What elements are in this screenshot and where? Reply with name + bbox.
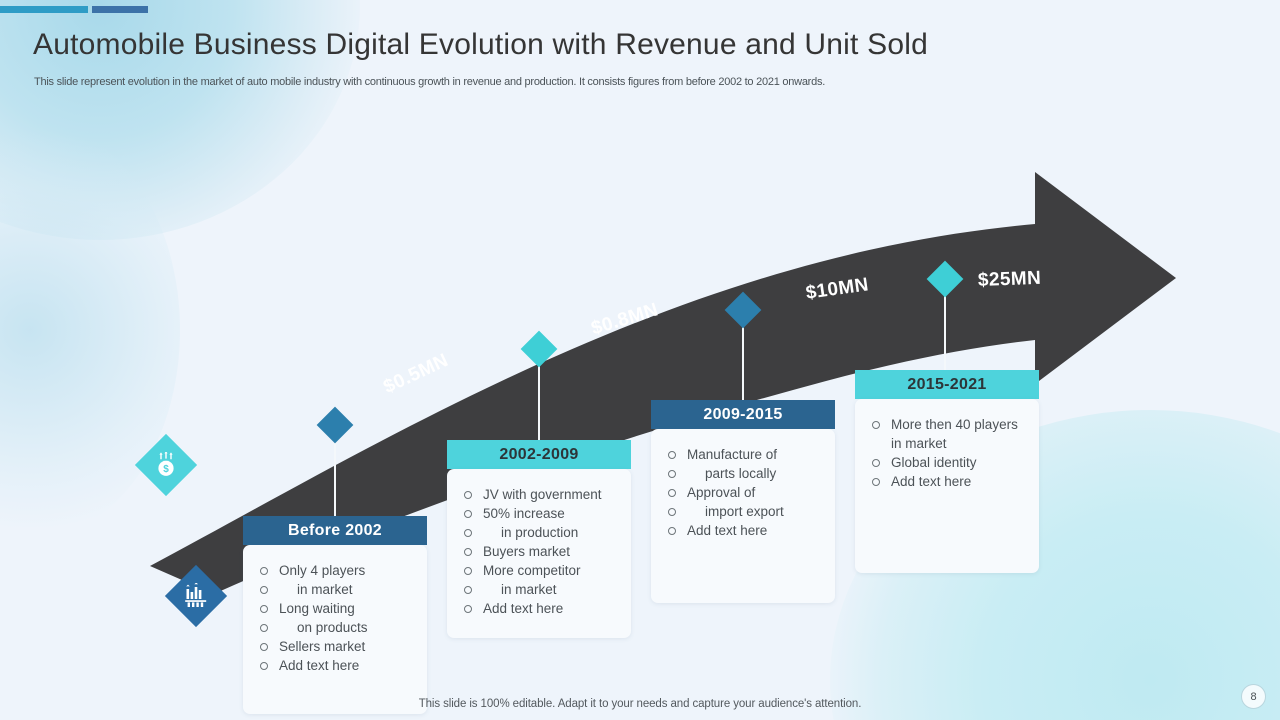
card-body-2009-2015: Manufacture of parts locally Approval of…	[651, 429, 835, 603]
bullet-icon	[260, 624, 268, 632]
list-item-label: Manufacture of	[687, 447, 777, 462]
list-item: Only 4 players	[257, 561, 417, 580]
list-item-label: import export	[705, 504, 784, 519]
list-item-label: More then 40 players	[891, 417, 1018, 432]
revenue-label-25mn: $25MN	[978, 268, 1042, 292]
list-item: 50% increase	[461, 504, 621, 523]
list-item-label: in production	[501, 525, 578, 540]
card-title-before-2002: Before 2002	[243, 516, 427, 545]
list-item-label: in market	[891, 436, 947, 451]
card-before-2002: Before 2002 Only 4 players in market Lon…	[243, 516, 427, 714]
list-item-label: Add text here	[483, 601, 563, 616]
card-list-2015-2021: More then 40 players in market Global id…	[869, 415, 1029, 491]
list-item-label: Buyers market	[483, 544, 570, 559]
card-2015-2021: 2015-2021 More then 40 players in market…	[855, 370, 1039, 573]
card-2002-2009: 2002-2009 JV with government 50% increas…	[447, 440, 631, 638]
list-item: Manufacture of	[665, 445, 825, 464]
list-item: in market	[869, 434, 1029, 453]
list-item: Add text here	[869, 472, 1029, 491]
list-item-label: in market	[501, 582, 557, 597]
card-title-2009-2015: 2009-2015	[651, 400, 835, 429]
list-item: on products	[257, 618, 417, 637]
card-list-before-2002: Only 4 players in market Long waiting on…	[257, 561, 417, 675]
marker-2002-2009[interactable]	[521, 331, 558, 368]
page-number-badge: 8	[1241, 684, 1266, 709]
list-item-label: 50% increase	[483, 506, 565, 521]
list-item: in market	[461, 580, 621, 599]
bullet-icon	[668, 451, 676, 459]
list-item: Add text here	[257, 656, 417, 675]
page-title: Automobile Business Digital Evolution wi…	[33, 28, 928, 62]
list-item: import export	[665, 502, 825, 521]
list-item: Buyers market	[461, 542, 621, 561]
slide-root: Automobile Business Digital Evolution wi…	[0, 0, 1280, 720]
list-item-label: Add text here	[687, 523, 767, 538]
card-body-before-2002: Only 4 players in market Long waiting on…	[243, 545, 427, 714]
revenue-label-10mn: $10MN	[804, 274, 870, 305]
list-item: Add text here	[461, 599, 621, 618]
marker-2009-2015[interactable]	[725, 292, 762, 329]
list-item-label: in market	[297, 582, 353, 597]
list-item-label: Add text here	[891, 474, 971, 489]
bullet-icon	[260, 605, 268, 613]
svg-text:$: $	[163, 464, 169, 475]
list-item: More then 40 players	[869, 415, 1029, 434]
bullet-icon	[464, 491, 472, 499]
list-item: parts locally	[665, 464, 825, 483]
list-item: JV with government	[461, 485, 621, 504]
bullet-icon	[872, 421, 880, 429]
card-2009-2015: 2009-2015 Manufacture of parts locally A…	[651, 400, 835, 603]
card-list-2002-2009: JV with government 50% increase in produ…	[461, 485, 621, 618]
footer-note: This slide is 100% editable. Adapt it to…	[0, 698, 1280, 710]
card-body-2015-2021: More then 40 players in market Global id…	[855, 399, 1039, 573]
list-item-label: Add text here	[279, 658, 359, 673]
bullet-icon	[464, 605, 472, 613]
list-item-label: Sellers market	[279, 639, 365, 654]
list-item-label: Global identity	[891, 455, 977, 470]
bullet-icon	[668, 470, 676, 478]
top-accent-segment-right	[92, 6, 148, 13]
list-item: More competitor	[461, 561, 621, 580]
card-title-2015-2021: 2015-2021	[855, 370, 1039, 399]
list-item-label: Approval of	[687, 485, 755, 500]
marker-2015-2021[interactable]	[927, 261, 964, 298]
card-body-2002-2009: JV with government 50% increase in produ…	[447, 469, 631, 638]
bullet-icon	[668, 508, 676, 516]
list-item: in production	[461, 523, 621, 542]
list-item: Approval of	[665, 483, 825, 502]
card-title-2002-2009: 2002-2009	[447, 440, 631, 469]
list-item: Long waiting	[257, 599, 417, 618]
bullet-icon	[872, 478, 880, 486]
card-list-2009-2015: Manufacture of parts locally Approval of…	[665, 445, 825, 540]
bullet-icon	[260, 662, 268, 670]
bullet-icon	[464, 529, 472, 537]
bullet-icon	[260, 586, 268, 594]
page-subtitle: This slide represent evolution in the ma…	[34, 76, 825, 88]
top-accent-segment-left	[0, 6, 88, 13]
list-item: Add text here	[665, 521, 825, 540]
list-item-label: on products	[297, 620, 368, 635]
list-item-label: Only 4 players	[279, 563, 365, 578]
revenue-label-0.8mn: $0.8MN	[589, 299, 661, 340]
bullet-icon	[668, 489, 676, 497]
top-accent-bar	[0, 6, 148, 13]
list-item-label: Long waiting	[279, 601, 355, 616]
bullet-icon	[260, 567, 268, 575]
bullet-icon	[872, 459, 880, 467]
list-item-label: More competitor	[483, 563, 581, 578]
bullet-icon	[464, 510, 472, 518]
list-item: Sellers market	[257, 637, 417, 656]
list-item: Global identity	[869, 453, 1029, 472]
revenue-label-0.5mn: $0.5MN	[380, 350, 452, 399]
bullet-icon	[464, 548, 472, 556]
bullet-icon	[668, 527, 676, 535]
money-bag-growth-icon: $	[135, 434, 197, 496]
list-item-label: JV with government	[483, 487, 602, 502]
list-item-label: parts locally	[705, 466, 776, 481]
bullet-icon	[260, 643, 268, 651]
bullet-icon	[464, 567, 472, 575]
marker-before-2002[interactable]	[317, 407, 354, 444]
factory-production-icon	[165, 565, 227, 627]
bullet-icon	[464, 586, 472, 594]
list-item: in market	[257, 580, 417, 599]
